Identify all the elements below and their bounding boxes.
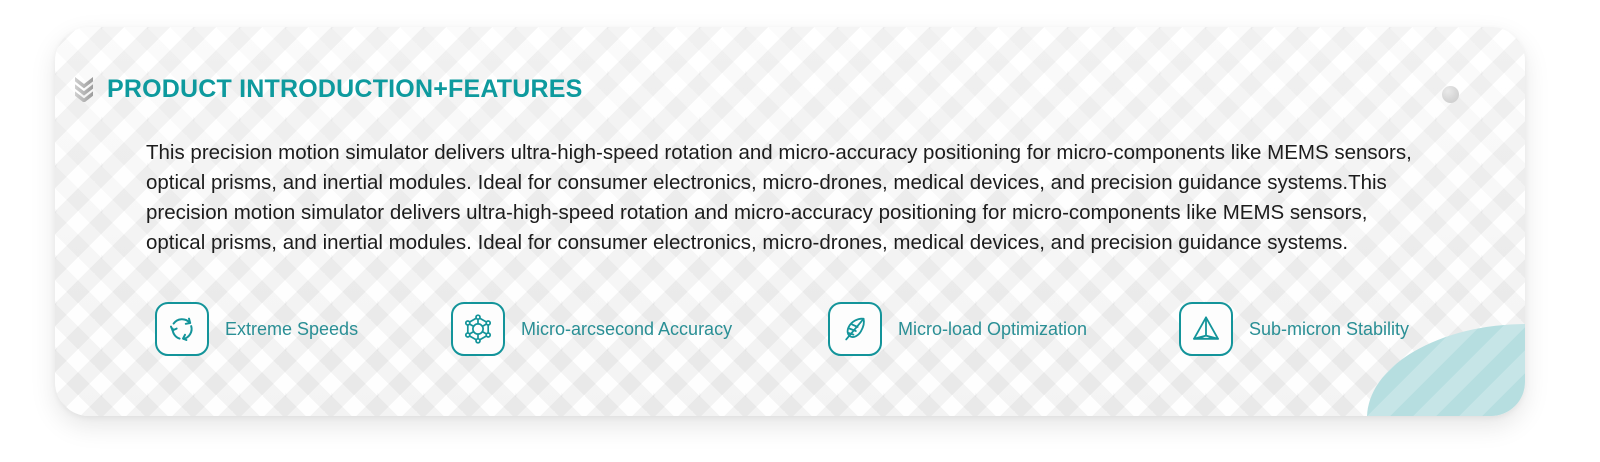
product-description: This precision motion simulator delivers…: [146, 138, 1431, 258]
page-title: PRODUCT INTRODUCTION+FEATURES: [107, 77, 582, 102]
double-chevron-down-icon: [74, 76, 94, 102]
feature-item-micro-load-optimization[interactable]: Micro-load Optimization: [828, 302, 1087, 356]
rotation-arrows-icon: [155, 302, 209, 356]
feature-label: Sub-micron Stability: [1249, 320, 1409, 338]
feature-item-extreme-speeds[interactable]: Extreme Speeds: [155, 302, 358, 356]
feature-label: Micro-load Optimization: [898, 320, 1087, 338]
feature-list: Extreme Speeds: [155, 302, 1485, 362]
grey-dot-icon: [1442, 86, 1459, 103]
product-intro-card: PRODUCT INTRODUCTION+FEATURES This preci…: [55, 27, 1525, 416]
feather-icon: [828, 302, 882, 356]
page-root: PRODUCT INTRODUCTION+FEATURES This preci…: [0, 0, 1600, 462]
feature-item-micro-arcsecond-accuracy[interactable]: Micro-arcsecond Accuracy: [451, 302, 732, 356]
pyramid-icon: [1179, 302, 1233, 356]
feature-label: Micro-arcsecond Accuracy: [521, 320, 732, 338]
hexagon-network-icon: [451, 302, 505, 356]
card-header: PRODUCT INTRODUCTION+FEATURES: [74, 76, 582, 102]
feature-item-sub-micron-stability[interactable]: Sub-micron Stability: [1179, 302, 1409, 356]
feature-label: Extreme Speeds: [225, 320, 358, 338]
